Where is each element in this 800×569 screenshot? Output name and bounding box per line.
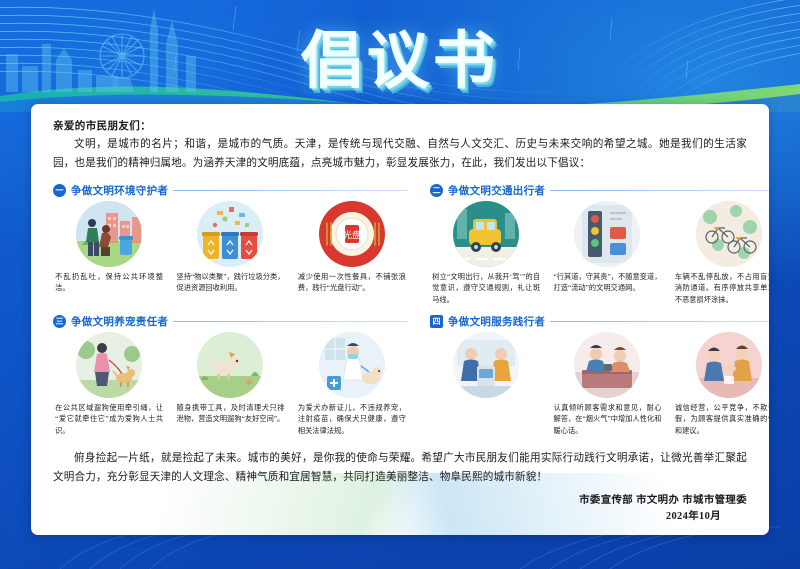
sections-grid: 一 争做文明环境守护者 <box>53 183 747 438</box>
signoff-date: 2024年10月 <box>53 507 747 522</box>
pet-vaccination-illustration <box>319 332 385 398</box>
section-items: 在公共区域遛狗使用牵引绳，让“爱它就牵住它”成为爱狗人士共识。 <box>53 332 408 438</box>
dog-waste-cleanup-illustration <box>197 332 263 398</box>
item-caption: 在公共区域遛狗使用牵引绳，让“爱它就牵住它”成为爱狗人士共识。 <box>55 403 163 438</box>
list-item: 认真倾听顾客需求和意见，耐心解答，在“烟火气”中增加人性化和暖心话。 <box>551 332 663 438</box>
item-caption: “行其道，守其责”，不随意变道，打造“流动”的文明交通网。 <box>553 272 661 295</box>
section-header: 三 争做文明养宠责任者 <box>53 314 408 329</box>
page-title: 倡议书 <box>301 10 499 100</box>
svg-text:光盘: 光盘 <box>343 229 361 241</box>
intro-paragraph: 文明，是城市的名片；和谐，是城市的气质。天津，是传统与现代交融、自然与人文交汇、… <box>53 136 747 174</box>
traffic-lane-illustration <box>574 201 640 267</box>
section-rule <box>550 190 769 191</box>
list-item: 不乱扔乱吐，保持公共环境整洁。 <box>53 201 165 295</box>
section-badge-3: 三 <box>53 315 66 328</box>
list-item <box>430 332 542 438</box>
item-caption: 坚持“物以类聚”，践行垃圾分类，促进资源回收利用。 <box>176 272 284 295</box>
item-caption: 诚信经营，公平竞争，不欺诈作假，为顾客提供真实准确的信息和建议。 <box>675 403 769 438</box>
item-caption: 不乱扔乱吐，保持公共环境整洁。 <box>55 272 163 295</box>
signoff-organizations: 市委宣传部 市文明办 市城市管理委 <box>53 491 747 506</box>
honest-business-illustration <box>696 332 762 398</box>
poster-title-wrap: 倡议书 <box>0 10 800 100</box>
litter-park-illustration <box>76 201 142 267</box>
list-item: 树立“文明出行，从我开‘驾’”的自觉意识，遵守交通规则，礼让斑马线。 <box>430 201 542 307</box>
section-title-1: 争做文明环境守护者 <box>71 183 168 198</box>
list-item: 光盘 减少使用一次性餐具，不铺张浪费，践行“光盘行动”。 <box>296 201 408 295</box>
item-caption: 车辆不乱停乱放，不占用盲道、消防通道。有序停放共享单车，不恶意损坏涂抹。 <box>675 272 769 307</box>
section-pets: 三 争做文明养宠责任者 <box>53 314 408 438</box>
section-title-2: 争做文明交通出行者 <box>448 183 545 198</box>
car-driving-illustration <box>453 201 519 267</box>
section-rule <box>173 190 408 191</box>
list-item: 诚信经营，公平竞争，不欺诈作假，为顾客提供真实准确的信息和建议。 <box>673 332 769 438</box>
salutation: 亲爱的市民朋友们： <box>53 118 747 133</box>
list-item: 坚持“物以类聚”，践行垃圾分类，促进资源回收利用。 <box>174 201 286 295</box>
section-badge-1: 一 <box>53 184 66 197</box>
content-card: 亲爱的市民朋友们： 文明，是城市的名片；和谐，是城市的气质。天津，是传统与现代交… <box>31 104 769 535</box>
section-traffic: 二 争做文明交通出行者 <box>430 183 769 307</box>
section-title-3: 争做文明养宠责任者 <box>71 314 168 329</box>
section-title-4: 争做文明服务践行者 <box>448 314 545 329</box>
section-badge-2: 二 <box>430 184 443 197</box>
section-badge-4: 四 <box>430 315 443 328</box>
section-items: 树立“文明出行，从我开‘驾’”的自觉意识，遵守交通规则，礼让斑马线。 <box>430 201 769 307</box>
item-caption: 减少使用一次性餐具，不铺张浪费，践行“光盘行动”。 <box>298 272 406 295</box>
list-item: “行其道，守其责”，不随意变道，打造“流动”的文明交通网。 <box>551 201 663 307</box>
item-caption: 树立“文明出行，从我开‘驾’”的自觉意识，遵守交通规则，礼让斑马线。 <box>432 272 540 307</box>
clean-plate-illustration: 光盘 <box>319 201 385 267</box>
dog-leash-illustration <box>76 332 142 398</box>
section-items: 不乱扔乱吐，保持公共环境整洁。 <box>53 201 408 295</box>
list-item: 车辆不乱停乱放，不占用盲道、消防通道。有序停放共享单车，不恶意损坏涂抹。 <box>673 201 769 307</box>
list-item: 为爱犬办新证儿，不违规养宠，注射疫苗，确保犬只健康，遵守相关法律法规。 <box>296 332 408 438</box>
section-items: 认真倾听顾客需求和意见，耐心解答，在“烟火气”中增加人性化和暖心话。 <box>430 332 769 438</box>
section-header: 一 争做文明环境守护者 <box>53 183 408 198</box>
closing-paragraph: 俯身捡起一片纸，就是捡起了未来。城市的美好，是你我的使命与荣耀。希望广大市民朋友… <box>53 449 747 487</box>
list-item: 在公共区域遛狗使用牵引绳，让“爱它就牵住它”成为爱狗人士共识。 <box>53 332 165 438</box>
shared-bikes-illustration <box>696 201 762 267</box>
handshake <box>722 366 736 371</box>
section-rule <box>173 321 408 322</box>
list-item: 随身携带工具，及时清理犬只排泄物，营造文明遛狗“友好空间”。 <box>174 332 286 438</box>
section-environment: 一 争做文明环境守护者 <box>53 183 408 307</box>
recycle-bins-illustration <box>197 201 263 267</box>
item-caption: 认真倾听顾客需求和意见，耐心解答，在“烟火气”中增加人性化和暖心话。 <box>553 403 661 438</box>
section-header: 四 争做文明服务践行者 <box>430 314 769 329</box>
customer-service-illustration <box>574 332 640 398</box>
counter <box>582 370 632 388</box>
item-caption: 随身携带工具，及时清理犬只排泄物，营造文明遛狗“友好空间”。 <box>176 403 284 426</box>
section-header: 二 争做文明交通出行者 <box>430 183 769 198</box>
section-service: 四 争做文明服务践行者 <box>430 314 769 438</box>
service-counter-illustration <box>453 332 519 398</box>
poster-root: 倡议书 亲爱的市民朋友们： 文明，是城市的名片；和谐，是城市的气质。天津，是传统… <box>0 0 800 569</box>
item-caption: 为爱犬办新证儿，不违规养宠，注射疫苗，确保犬只健康，遵守相关法律法规。 <box>298 403 406 438</box>
section-rule <box>550 321 769 322</box>
